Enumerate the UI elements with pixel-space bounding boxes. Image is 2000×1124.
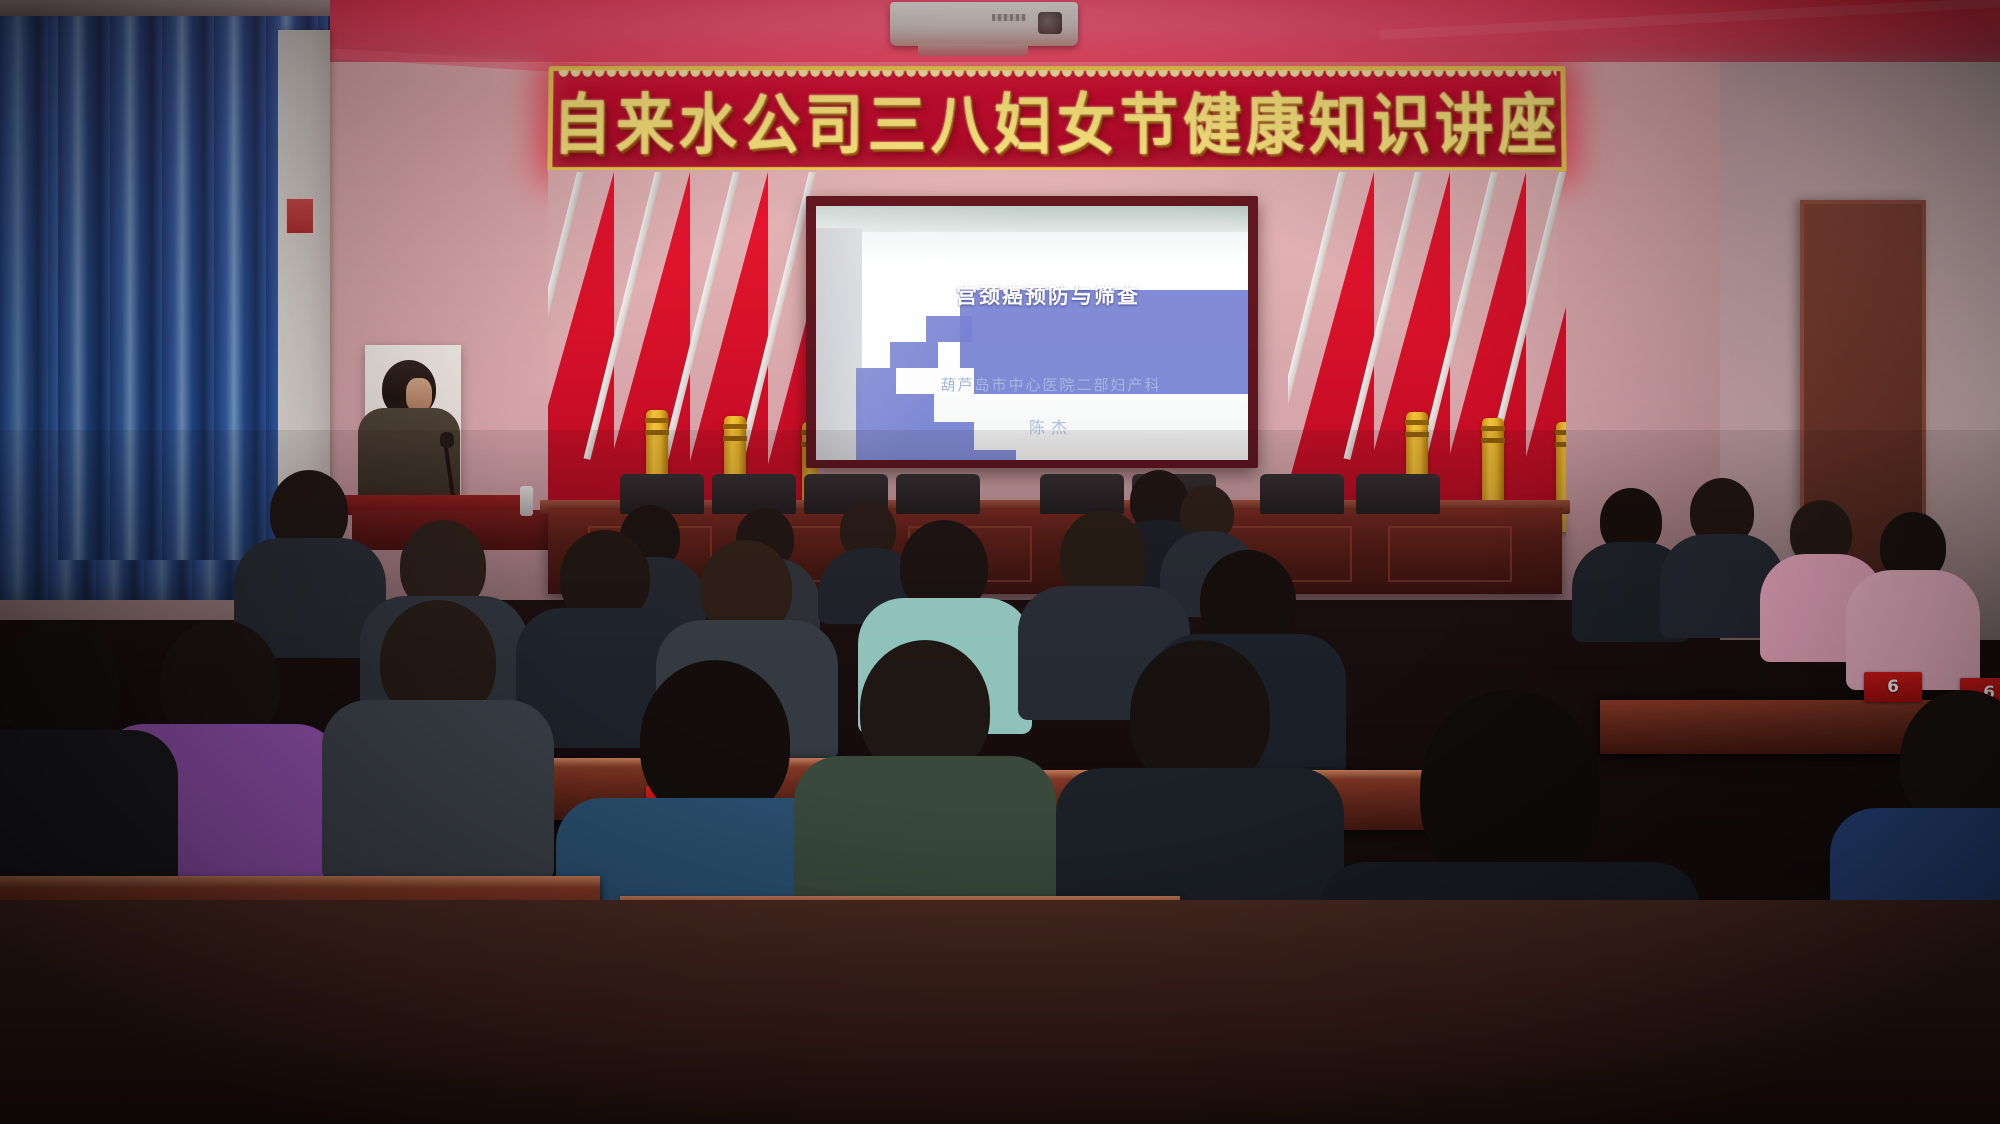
slide-title: 宫颈癌预防与筛查	[956, 280, 1248, 310]
projector-lens-icon	[1038, 12, 1062, 34]
presenter-face	[406, 378, 432, 412]
wall-notice-sign	[286, 198, 314, 234]
floor	[0, 900, 2000, 1124]
slide-subtitle: 葫芦岛市中心医院二部妇产科	[856, 374, 1246, 395]
seat-number-tag: 6	[1864, 672, 1922, 702]
ceiling-projector	[890, 2, 1078, 46]
lecture-hall-photo: 自来水公司三八妇女节健康知识讲座	[0, 0, 2000, 1124]
chair-rail	[0, 876, 600, 888]
screen-surface: 宫颈癌预防与筛查 葫芦岛市中心医院二部妇产科 陈杰	[816, 206, 1248, 460]
banner-title-text: 自来水公司三八妇女节健康知识讲座	[552, 72, 1561, 166]
curtain-rail	[0, 0, 330, 16]
event-banner: 自来水公司三八妇女节健康知识讲座	[547, 66, 1566, 172]
projection-screen: 宫颈癌预防与筛查 葫芦岛市中心医院二部妇产科 陈杰	[806, 196, 1258, 468]
screen-top-shade	[816, 206, 1248, 232]
projector-vent-icon	[992, 14, 1026, 21]
